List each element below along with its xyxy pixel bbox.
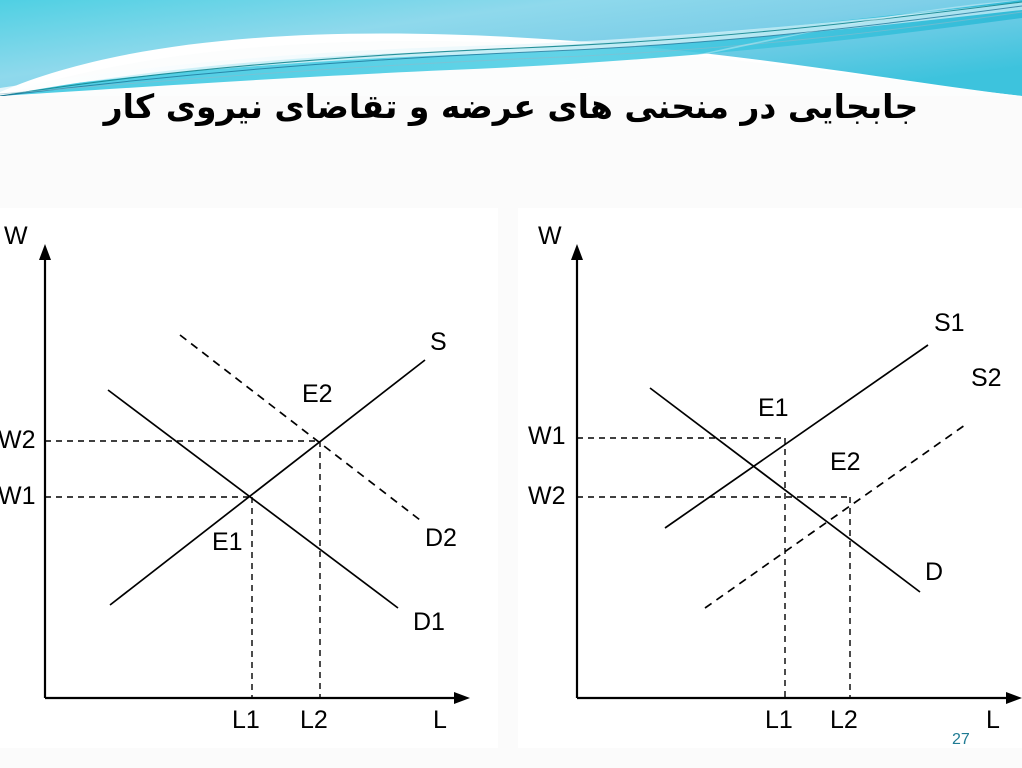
right-chart-x-axis-label: L (986, 708, 1000, 733)
header-decoration-band (0, 0, 1022, 96)
left-chart-curve-label-s: S (430, 330, 447, 355)
page-number: 27 (952, 731, 970, 749)
chart-left-svg (0, 208, 498, 748)
chart-left-demand-shift: W L W2 W1 L1 L2 S D1 D2 E1 E2 (0, 208, 498, 748)
left-chart-tick-w2: W2 (0, 428, 36, 453)
right-chart-equilibrium-label-e1: E1 (758, 396, 789, 421)
curve-supply-s (110, 360, 425, 605)
left-chart-tick-l1: L1 (232, 708, 260, 733)
chart-right-supply-shift: W L W1 W2 L1 L2 S1 S2 D E1 E2 (518, 208, 1022, 748)
right-chart-curve-label-s1: S1 (934, 311, 965, 336)
curve-demand-d1 (108, 390, 398, 608)
right-chart-tick-l1: L1 (765, 708, 793, 733)
right-chart-tick-w1: W1 (528, 424, 566, 449)
curve-demand-d2 (180, 335, 420, 520)
y-axis-arrow-icon (571, 244, 583, 260)
left-chart-tick-l2: L2 (300, 708, 328, 733)
curve-supply-s1 (665, 345, 928, 528)
chart-right-svg (518, 208, 1022, 748)
right-chart-tick-l2: L2 (830, 708, 858, 733)
right-chart-curve-label-s2: S2 (971, 366, 1002, 391)
left-chart-equilibrium-label-e1: E1 (212, 530, 243, 555)
x-axis-arrow-icon (454, 692, 470, 704)
slide: جابجایی در منحنی های عرضه و تقاضای نیروی… (0, 0, 1022, 768)
left-chart-curve-label-d1: D1 (413, 610, 445, 635)
page-title: جابجایی در منحنی های عرضه و تقاضای نیروی… (0, 86, 1022, 127)
y-axis-arrow-icon (39, 244, 51, 260)
left-chart-equilibrium-label-e2: E2 (302, 382, 333, 407)
x-axis-arrow-icon (1006, 692, 1022, 704)
left-chart-x-axis-label: L (433, 708, 447, 733)
left-chart-tick-w1: W1 (0, 484, 36, 509)
header-wave-graphic (0, 0, 1022, 96)
right-chart-equilibrium-label-e2: E2 (830, 450, 861, 475)
left-chart-y-axis-label: W (4, 224, 28, 249)
right-chart-curve-label-d: D (925, 560, 943, 585)
right-chart-y-axis-label: W (538, 224, 562, 249)
left-chart-curve-label-d2: D2 (425, 526, 457, 551)
right-chart-tick-w2: W2 (528, 484, 566, 509)
